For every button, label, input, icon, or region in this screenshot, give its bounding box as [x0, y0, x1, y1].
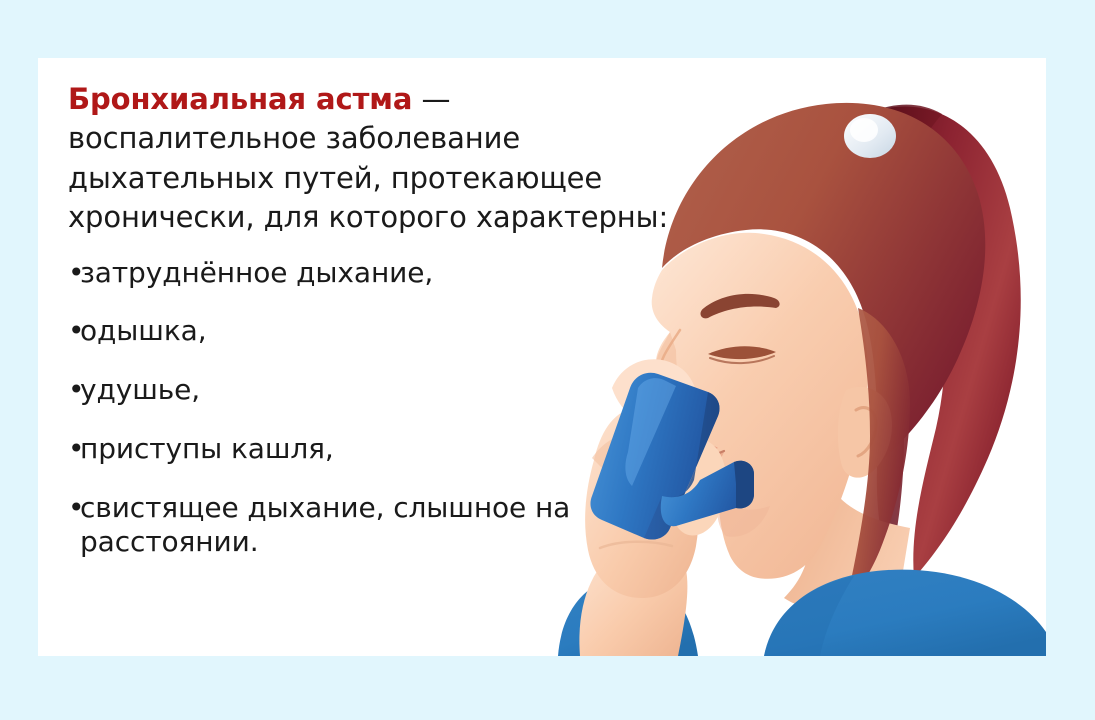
list-item-label: одышка, — [80, 314, 207, 347]
list-item-label: удушье, — [80, 373, 200, 406]
hair-tie — [844, 114, 896, 158]
list-item-label: свистящее дыхание, слышное на расстоянии… — [80, 491, 570, 559]
slide-root: Бронхиальная астма — воспалительное забо… — [0, 0, 1095, 720]
bullet-icon: • — [68, 256, 84, 291]
list-item-label: приступы кашля, — [80, 432, 334, 465]
list-item-label: затруднённое дыхание, — [80, 256, 433, 289]
bullet-icon: • — [68, 314, 84, 349]
bullet-icon: • — [68, 373, 84, 408]
lead-term-highlight: Бронхиальная астма — [68, 82, 412, 116]
content-card: Бронхиальная астма — воспалительное забо… — [38, 58, 1046, 656]
woman-using-inhaler-illustration — [558, 58, 1046, 656]
bullet-icon: • — [68, 432, 84, 467]
bullet-icon: • — [68, 491, 84, 526]
